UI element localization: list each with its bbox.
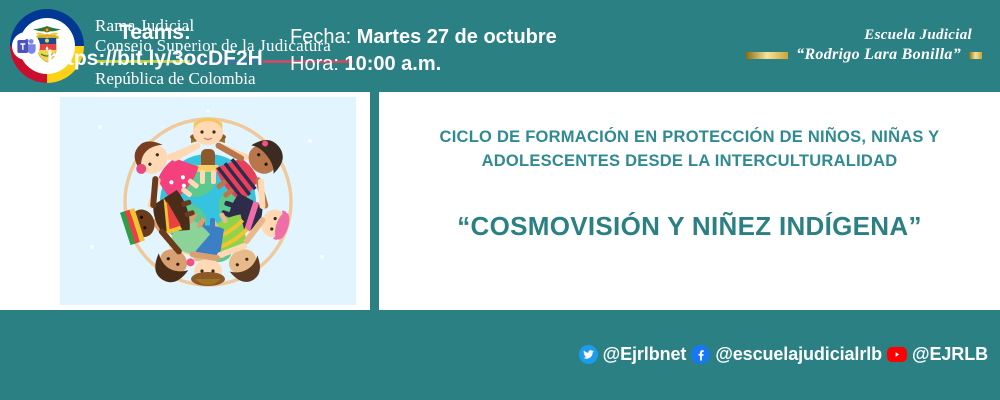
facebook-icon[interactable]	[691, 345, 710, 364]
teams-text-block: Teams: https://bit.ly/3ocDF2H	[47, 20, 263, 72]
gold-bar-right	[969, 52, 982, 59]
school-name-line2: “Rodrigo Lara Bonilla”	[796, 46, 961, 64]
social-links: @Ejrlbnet @escuelajudicialrlb @EJRLB	[579, 344, 988, 365]
time-label: Hora:	[290, 53, 339, 75]
event-date-line: Fecha: Martes 27 de octubre	[290, 24, 557, 51]
twitter-icon[interactable]	[579, 345, 598, 364]
school-name-line2-row: “Rodrigo Lara Bonilla”	[746, 46, 982, 64]
youtube-icon[interactable]	[887, 347, 907, 362]
time-value: 10:00 a.m.	[344, 53, 441, 75]
teams-label: Teams:	[47, 20, 263, 46]
school-name-line1: Escuela Judicial	[746, 26, 972, 44]
title-area: CICLO DE FORMACIÓN EN PROTECCIÓN DE NIÑO…	[379, 92, 1000, 310]
microsoft-teams-icon	[12, 32, 40, 60]
date-value: Martes 27 de octubre	[357, 26, 557, 48]
gold-bar-left	[746, 52, 788, 59]
facebook-handle[interactable]: @escuelajudicialrlb	[715, 344, 882, 365]
twitter-handle[interactable]: @Ejrlbnet	[603, 344, 687, 365]
date-label: Fecha:	[290, 26, 351, 48]
vertical-divider	[370, 92, 379, 310]
teams-url[interactable]: https://bit.ly/3ocDF2H	[47, 46, 263, 72]
page-title: CICLO DE FORMACIÓN EN PROTECCIÓN DE NIÑO…	[390, 125, 990, 173]
schedule-group: Fecha: Martes 27 de octubre Hora: 10:00 …	[290, 24, 557, 78]
event-banner: Rama Judicial Consejo Superior de la Jud…	[0, 0, 1000, 400]
school-brand-block: Escuela Judicial “Rodrigo Lara Bonilla”	[746, 26, 982, 64]
teams-link-group[interactable]: Teams: https://bit.ly/3ocDF2H	[12, 20, 263, 72]
children-around-globe-illustration	[60, 97, 356, 305]
event-time-line: Hora: 10:00 a.m.	[290, 51, 557, 78]
youtube-handle[interactable]: @EJRLB	[912, 344, 988, 365]
page-subtitle: “COSMOVISIÓN Y NIÑEZ INDÍGENA”	[457, 211, 922, 242]
